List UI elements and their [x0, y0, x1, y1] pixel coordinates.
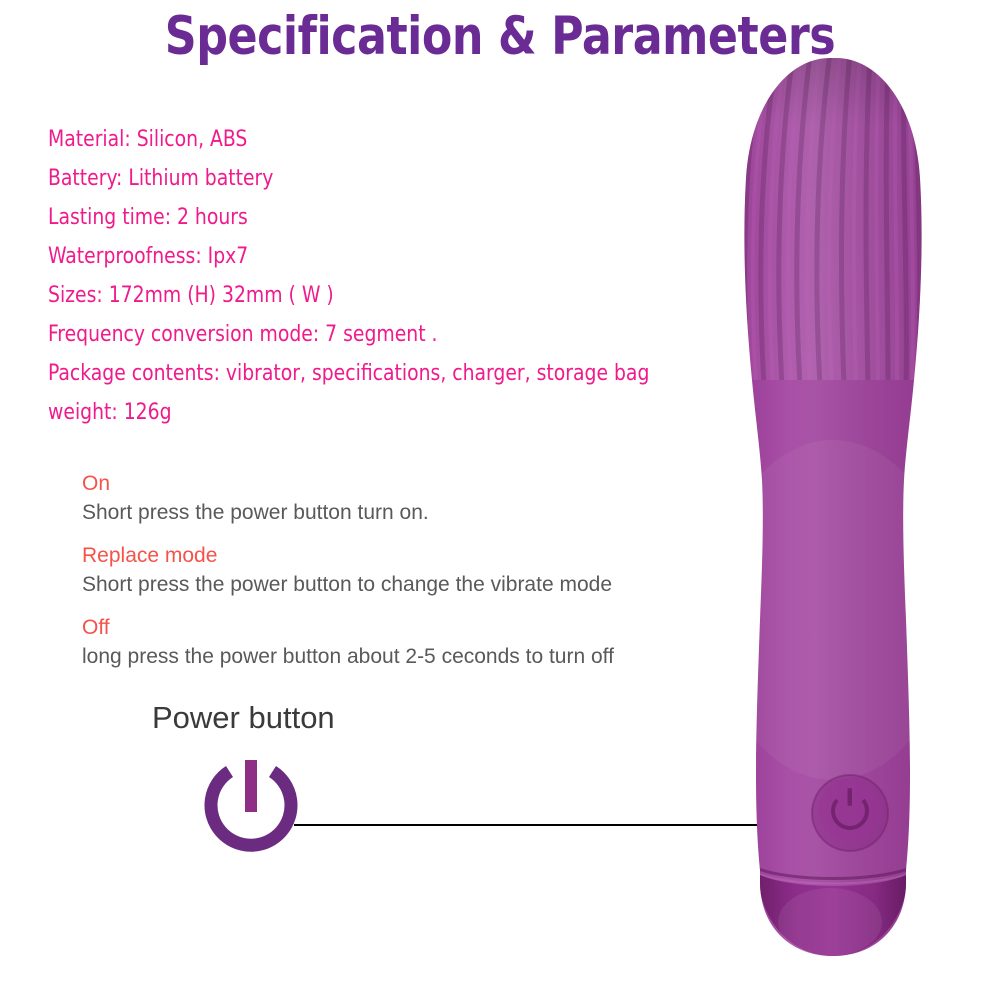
instruction-body: Short press the power button to change t…	[82, 569, 782, 600]
specification-infographic: Specification & Parameters Material: Sil…	[0, 0, 1000, 1000]
instruction-group-replace-mode: Replace mode Short press the power butto…	[82, 542, 782, 600]
spec-item: Frequency conversion mode: 7 segment .	[48, 315, 713, 354]
spec-item: Material: Silicon, ABS	[48, 120, 713, 159]
spec-item: Lasting time: 2 hours	[48, 198, 713, 237]
product-image	[690, 50, 1000, 1000]
spec-item: Package contents: vibrator, specificatio…	[48, 354, 713, 393]
product-body	[690, 50, 1000, 1000]
instruction-body: long press the power button about 2-5 ce…	[82, 641, 782, 672]
power-icon	[198, 752, 304, 862]
instruction-group-off: Off long press the power button about 2-…	[82, 614, 782, 672]
spec-item: Waterproofness: Ipx7	[48, 237, 713, 276]
instruction-body: Short press the power button turn on.	[82, 497, 782, 528]
ribbed-texture	[690, 50, 1000, 390]
instruction-heading: Replace mode	[82, 542, 782, 569]
spec-item: Battery: Lithium battery	[48, 159, 713, 198]
instruction-list: On Short press the power button turn on.…	[82, 470, 782, 686]
power-button-label: Power button	[152, 700, 335, 736]
spec-item: weight: 126g	[48, 393, 713, 432]
spec-item: Sizes: 172mm (H) 32mm ( W )	[48, 276, 713, 315]
instruction-group-on: On Short press the power button turn on.	[82, 470, 782, 528]
instruction-heading: On	[82, 470, 782, 497]
instruction-heading: Off	[82, 614, 782, 641]
product-power-button	[812, 775, 888, 851]
specification-list: Material: Silicon, ABS Battery: Lithium …	[48, 120, 748, 432]
